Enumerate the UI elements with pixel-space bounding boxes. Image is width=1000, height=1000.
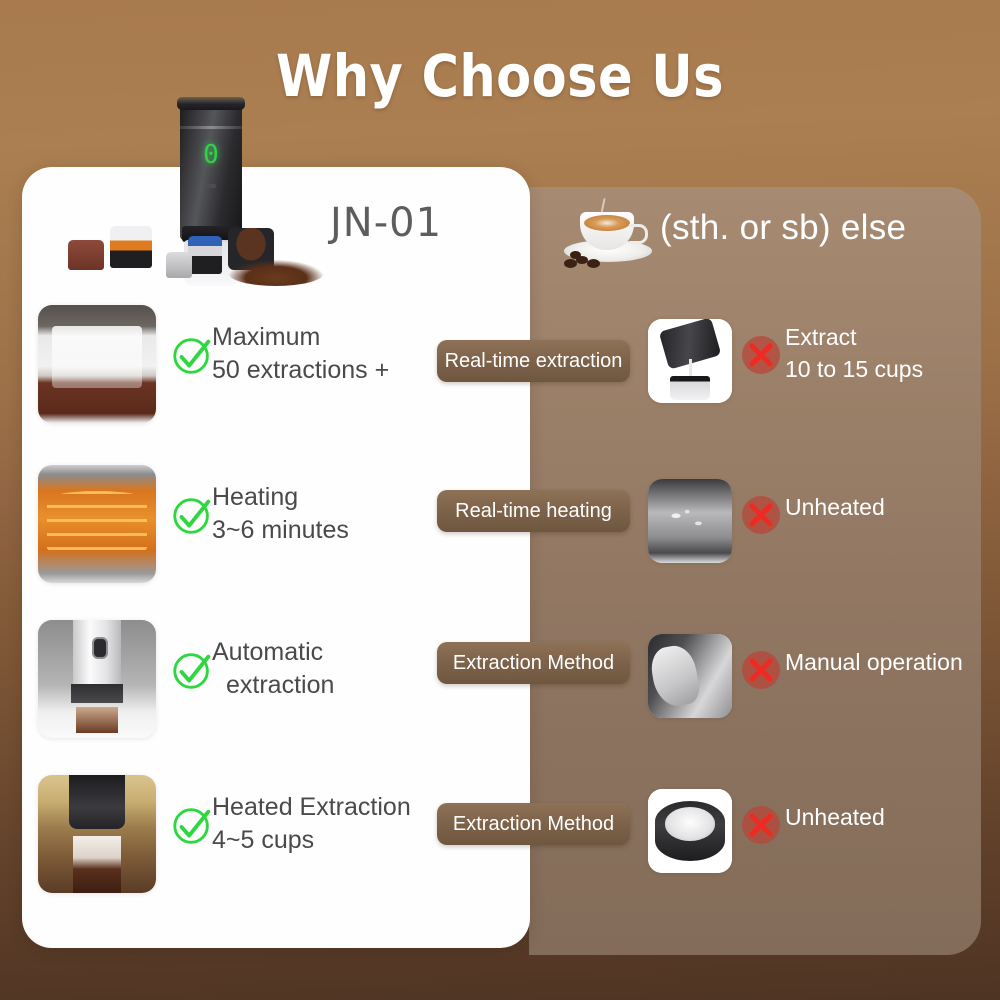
feature-line-1: Extract [785, 321, 1000, 353]
product-thumbnail [38, 465, 156, 583]
cross-icon [741, 495, 781, 535]
feature-line-2: extraction [212, 669, 452, 702]
machine-indicator [206, 184, 216, 188]
comparison-row: Automatic extraction Extraction Method M… [0, 620, 1000, 738]
category-badge: Real-time extraction [437, 340, 630, 382]
feature-line-2: 4~5 cups [212, 824, 462, 857]
feature-line-2: 3~6 minutes [212, 514, 452, 547]
feature-line-1: Heating [212, 481, 452, 514]
check-icon [170, 648, 216, 694]
competitor-feature-text: Manual operation [785, 646, 1000, 678]
crema [584, 215, 630, 231]
cross-icon [741, 650, 781, 690]
product-feature-text: Maximum 50 extractions + [212, 321, 452, 387]
competitor-thumbnail [648, 319, 732, 403]
coffee-bean-icon [587, 259, 600, 268]
competitor-feature-text: Unheated [785, 491, 1000, 523]
capsule-silver [166, 252, 192, 278]
product-thumbnail [38, 305, 156, 423]
category-badge: Extraction Method [437, 803, 630, 845]
feature-line-1: Heated Extraction [212, 791, 462, 824]
machine-ring [180, 126, 242, 129]
comparison-row: Maximum 50 extractions + Real-time extra… [0, 305, 1000, 423]
capsule-orange [110, 226, 152, 268]
check-icon [170, 333, 216, 379]
competitor-feature-text: Unheated [785, 801, 1000, 833]
product-feature-text: Automatic extraction [212, 636, 452, 702]
product-hero-image: 0 [60, 100, 390, 285]
comparison-row: Heating 3~6 minutes Real-time heating Un… [0, 465, 1000, 583]
feature-line-2: 50 extractions + [212, 354, 452, 387]
competitor-thumbnail [648, 789, 732, 873]
product-feature-text: Heating 3~6 minutes [212, 481, 452, 547]
competitor-header: (sth. or sb) else [548, 196, 978, 272]
product-thumbnail [38, 775, 156, 893]
feature-line-1: Unheated [785, 801, 1000, 833]
feature-line-1: Unheated [785, 491, 1000, 523]
machine-lid [177, 97, 245, 110]
category-badge: Real-time heating [437, 490, 630, 532]
feature-line-2: 10 to 15 cups [785, 353, 1000, 385]
ground-coffee-pile [228, 260, 324, 286]
cross-icon [741, 335, 781, 375]
comparison-row: Heated Extraction 4~5 cups Extraction Me… [0, 775, 1000, 893]
product-thumbnail [38, 620, 156, 738]
product-feature-text: Heated Extraction 4~5 cups [212, 791, 462, 857]
feature-line-1: Automatic [212, 636, 452, 669]
competitor-feature-text: Extract 10 to 15 cups [785, 321, 1000, 385]
feature-line-1: Manual operation [785, 646, 1000, 678]
product-model-label: JN-01 [330, 200, 510, 246]
competitor-title: (sth. or sb) else [660, 208, 906, 248]
infographic-root: Why Choose Us 0 JN-01 [0, 0, 1000, 1000]
check-icon [170, 493, 216, 539]
competitor-thumbnail [648, 479, 732, 563]
competitor-thumbnail [648, 634, 732, 718]
coffee-bean-icon [570, 251, 581, 259]
cross-icon [741, 805, 781, 845]
machine-display-value: 0 [180, 140, 242, 170]
capsule-blue [188, 236, 222, 274]
cup-handle [629, 224, 648, 244]
capsule-brown [68, 240, 104, 270]
feature-line-1: Maximum [212, 321, 452, 354]
check-icon [170, 803, 216, 849]
category-badge: Extraction Method [437, 642, 630, 684]
latte-cup-icon [562, 202, 658, 268]
